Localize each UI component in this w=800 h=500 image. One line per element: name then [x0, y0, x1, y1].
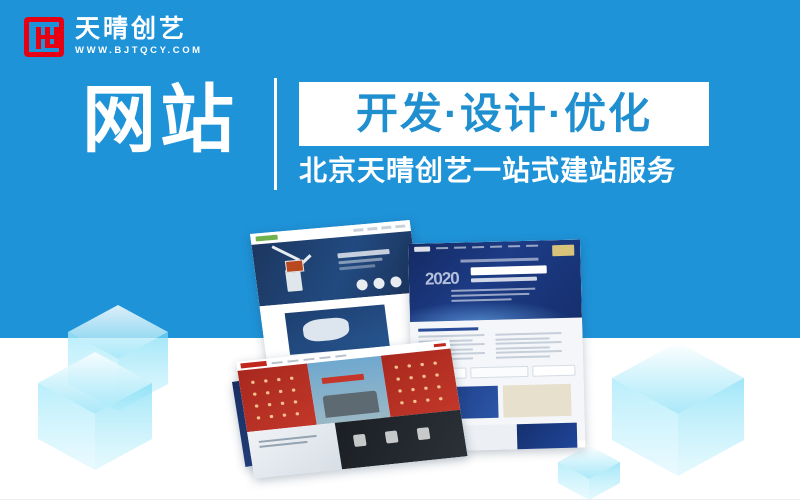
tagline-box: 开发·设计·优化	[299, 82, 709, 146]
shot-c-lang-switch	[434, 343, 446, 347]
shot-a-feature-dots	[356, 276, 402, 291]
shot-b-badge	[552, 245, 574, 257]
shot-b-card-beige	[503, 384, 572, 418]
shot-medical-robot-site	[250, 220, 426, 361]
page-title: 网站	[82, 78, 238, 162]
logo-company-name: 天晴创艺	[75, 16, 203, 42]
shot-c-red-door-left	[237, 364, 316, 433]
shot-b-hero: 2020	[408, 239, 582, 321]
tagline-text: 开发·设计·优化	[356, 91, 652, 137]
headline-block: 网站 开发·设计·优化 北京天晴创艺一站式建站服务	[0, 72, 800, 197]
shot-c-red-door-right	[381, 348, 460, 417]
logo-website-url: WWW.BJTQCY.COM	[75, 45, 203, 57]
headline-subtitle: 北京天晴创艺一站式建站服务	[299, 154, 719, 188]
shot-b-wave-graphic	[409, 295, 582, 321]
website-portfolio-collage: 2020	[232, 222, 580, 484]
poster-canvas: 天晴创艺 WWW.BJTQCY.COM 网站 开发·设计·优化 北京天晴创艺一站…	[0, 0, 800, 500]
shot-b-logo-icon	[414, 246, 430, 251]
logo-text-group: 天晴创艺 WWW.BJTQCY.COM	[75, 16, 203, 57]
shot-red-heritage-site	[236, 340, 468, 479]
shot-a-nav-items	[353, 224, 405, 232]
shot-c-document-panel	[247, 423, 342, 479]
robot-screen-icon	[285, 259, 305, 272]
shot-b-footer-right	[517, 423, 578, 452]
shot-a-hero-text	[337, 248, 401, 273]
brand-logo[interactable]: 天晴创艺 WWW.BJTQCY.COM	[24, 16, 203, 57]
shot-a-logo-icon	[255, 235, 278, 242]
shot-b-kicker	[460, 258, 538, 263]
cube-right-large	[612, 342, 744, 476]
shot-b-section-heading	[418, 327, 478, 332]
headline-divider	[274, 78, 277, 190]
shot-b-title-bars	[471, 265, 547, 285]
tianqing-square-logo-icon	[24, 17, 64, 57]
shot-c-center-photo	[307, 356, 390, 425]
shot-b-year-mark: 2020	[425, 269, 459, 290]
shot-b-column-right	[495, 332, 564, 361]
